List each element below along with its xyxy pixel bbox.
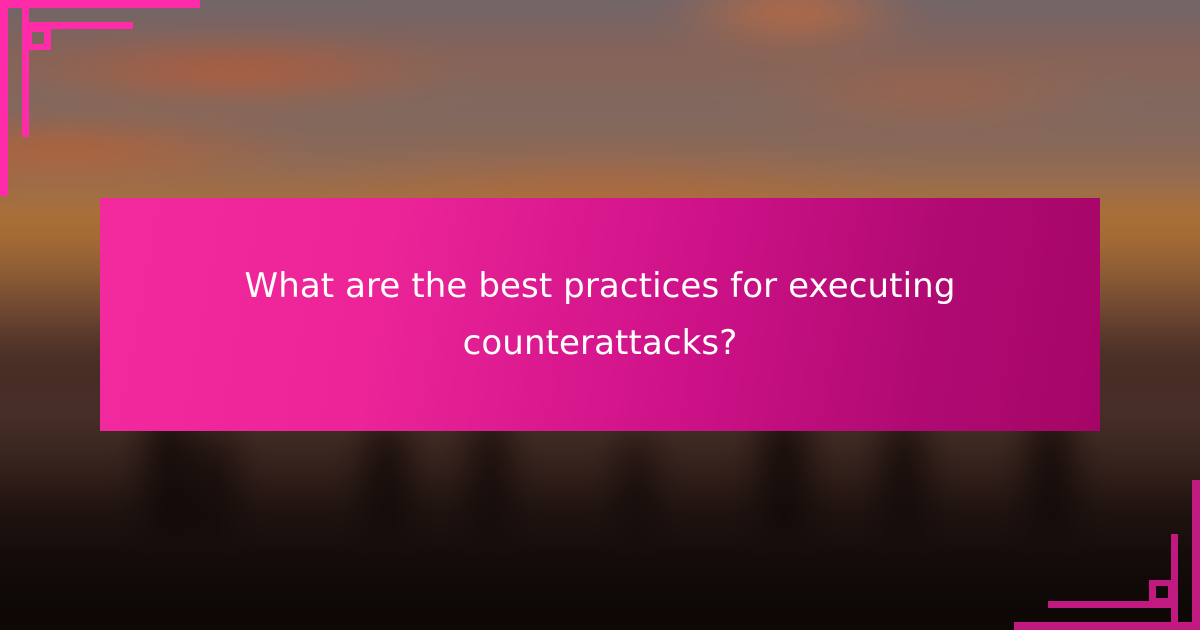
bracket-outer-horizontal [1014, 622, 1200, 630]
bracket-outer-vertical [1192, 480, 1200, 630]
poster-canvas: What are the best practices for executin… [0, 0, 1200, 630]
bracket-inner-vertical [22, 0, 29, 137]
corner-bracket-bottom-right [930, 480, 1200, 630]
corner-bracket-top-left [0, 0, 270, 210]
question-text: What are the best practices for executin… [160, 258, 1040, 372]
bracket-outer-vertical [0, 0, 8, 196]
bracket-square [1150, 580, 1174, 604]
question-banner: What are the best practices for executin… [100, 198, 1100, 431]
bracket-square [26, 26, 50, 50]
bracket-outer-horizontal [0, 0, 200, 8]
